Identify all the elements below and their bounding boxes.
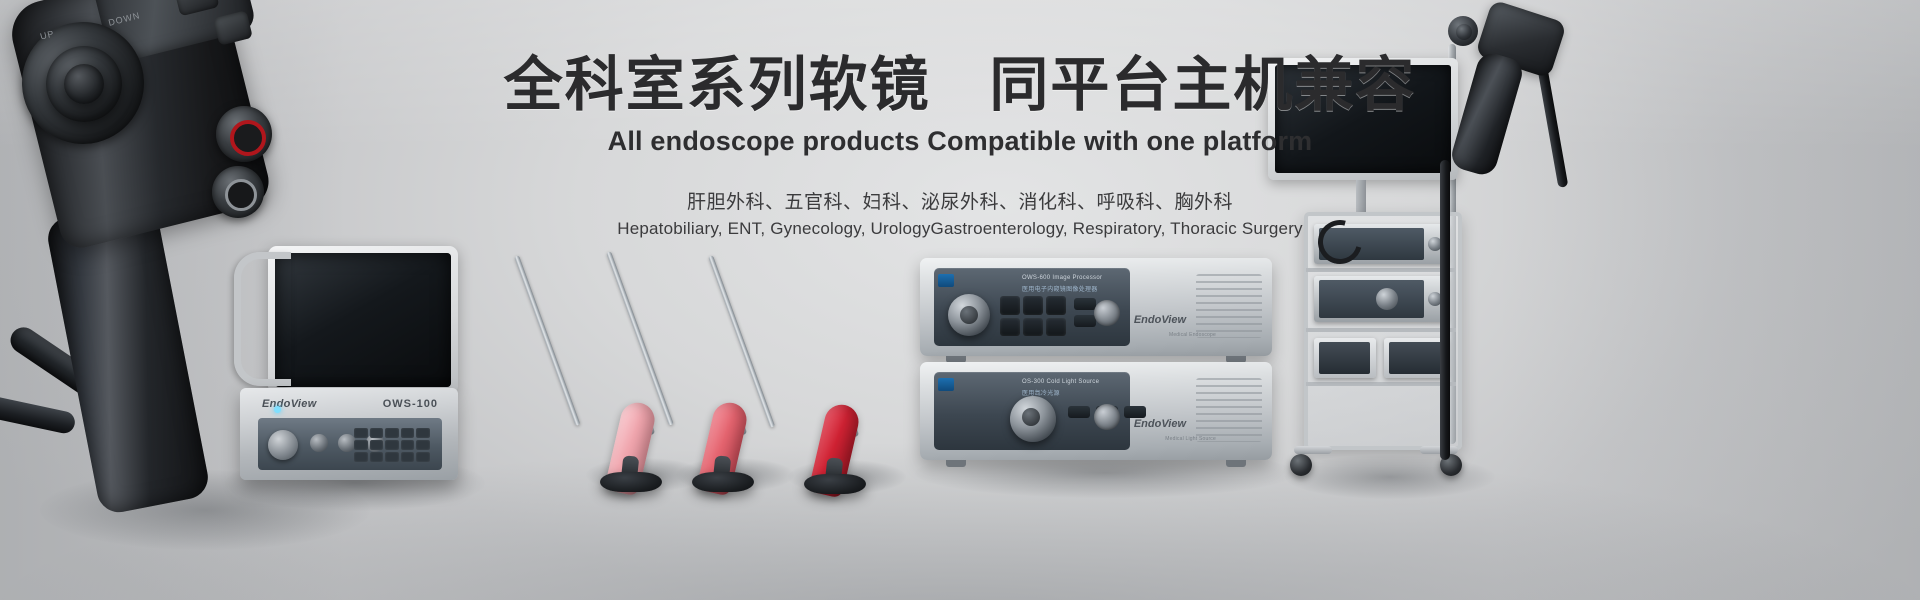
instrument-shaft [606, 251, 674, 426]
product-banner: UP DOWN EndoView OWS-100 [0, 0, 1920, 600]
image-processor-front-panel: OWS-600 Image Processor 医用电子内窥镜图像处理器 [934, 268, 1130, 346]
headline: 全科室系列软镜 同平台主机兼容 [0, 52, 1920, 120]
scope-knob-small [1456, 24, 1472, 40]
image-processor-brand: EndoView [1134, 314, 1186, 326]
cold-light-source-unit: OS-300 Cold Light Source 医用氙冷光源 EndoView… [920, 362, 1272, 460]
instrument-base [804, 474, 866, 494]
instrument-shaft [514, 255, 580, 426]
image-processor-keypad [1000, 296, 1066, 336]
light-source-feet [946, 460, 1246, 467]
subheadline: All endoscope products Compatible with o… [0, 126, 1920, 157]
departments-english: Hepatobiliary, ENT, Gynecology, UrologyG… [0, 219, 1920, 239]
image-processor-unit: OWS-600 Image Processor 医用电子内窥镜图像处理器 End… [920, 258, 1272, 356]
light-source-front-panel: OS-300 Cold Light Source 医用氙冷光源 [934, 372, 1130, 450]
trolley-device-2 [1314, 276, 1448, 322]
trolley-device-3-panel [1319, 342, 1370, 374]
departments-chinese: 肝胆外科、五官科、妇科、泌尿外科、消化科、呼吸科、胸外科 [0, 187, 1920, 214]
light-source-brightness-knob [1010, 396, 1056, 442]
image-processor-function-buttons [1074, 298, 1096, 327]
trolley-device-2-panel [1319, 280, 1424, 318]
trolley-device-2-knob [1376, 288, 1398, 310]
image-processor-vents [1196, 274, 1262, 338]
image-processor-title-en: OWS-600 Image Processor [1022, 275, 1102, 281]
light-source-vents [1196, 378, 1262, 442]
banner-text-block: 全科室系列软镜 同平台主机兼容 All endoscope products C… [0, 52, 1920, 239]
image-processor-badge [938, 274, 954, 287]
light-source-fiber-port [1094, 404, 1120, 430]
trolley-wheel-left [1290, 454, 1312, 476]
endoscope-insertion-tube-lower [0, 387, 77, 436]
trolley-device-3 [1314, 338, 1376, 378]
light-source-brand: EndoView [1134, 418, 1186, 430]
headline-part-1: 全科室系列软镜 [504, 52, 931, 118]
image-processor-scope-port [1094, 300, 1120, 326]
image-processor-title-cn: 医用电子内窥镜图像处理器 [1022, 284, 1098, 293]
headline-part-2: 同平台主机兼容 [989, 52, 1416, 118]
trolley-wheel-arm-left [1294, 446, 1332, 454]
surgical-instrument-red [706, 256, 856, 488]
image-processor-main-knob [948, 294, 990, 336]
instrument-shaft [708, 255, 775, 428]
light-source-title-en: OS-300 Cold Light Source [1022, 379, 1099, 385]
processor-stack: OWS-600 Image Processor 医用电子内窥镜图像处理器 End… [920, 258, 1272, 466]
image-processor-brand-sub: Medical Endoscope [1169, 332, 1216, 338]
light-source-brand-sub: Medical Light Source [1165, 436, 1216, 442]
light-source-badge [938, 378, 954, 391]
